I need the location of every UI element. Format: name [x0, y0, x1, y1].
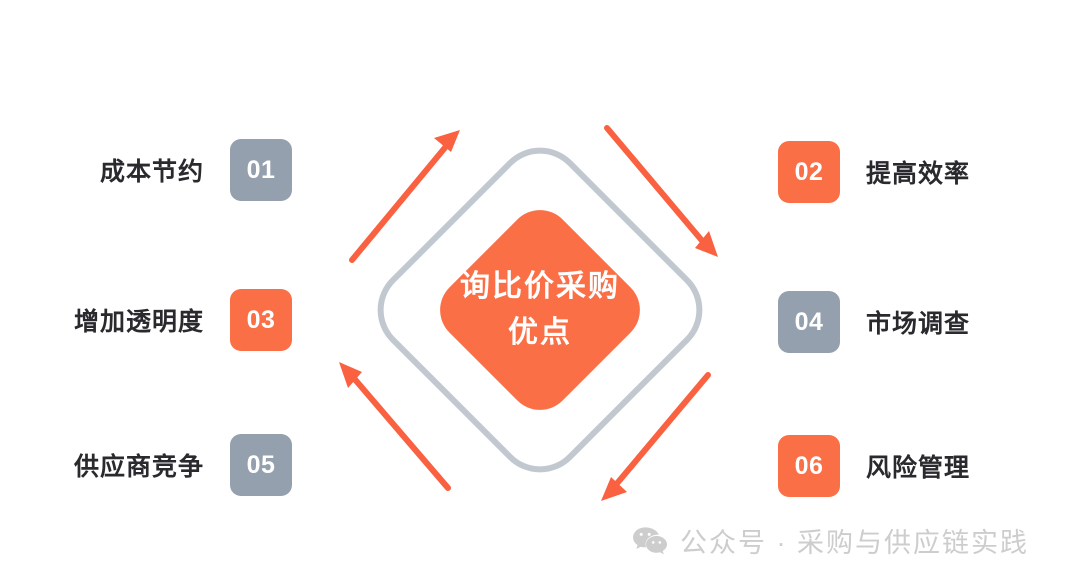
item-03-label: 增加透明度 [74, 302, 204, 338]
infographic-canvas: 询比价采购 优点 成本节约 01 增加透明度 03 供应商竞争 05 02 提高… [0, 0, 1080, 587]
item-06[interactable]: 06 风险管理 [778, 434, 1038, 498]
item-05[interactable]: 供应商竞争 05 [60, 433, 292, 497]
item-05-label: 供应商竞争 [74, 447, 204, 483]
item-01-label: 成本节约 [100, 152, 204, 188]
item-04-badge: 04 [778, 291, 840, 353]
item-03-badge: 03 [230, 289, 292, 351]
diamond-fill [427, 197, 653, 423]
item-02-badge: 02 [778, 141, 840, 203]
item-01-badge: 01 [230, 139, 292, 201]
arrow-bottom-right [601, 375, 708, 501]
item-06-label: 风险管理 [866, 448, 970, 484]
item-05-badge: 05 [230, 434, 292, 496]
wechat-icon [632, 526, 668, 556]
watermark-text: 公众号 · 采购与供应链实践 [680, 521, 1029, 560]
watermark: 公众号 · 采购与供应链实践 [632, 521, 1029, 560]
arrow-top-right [607, 128, 718, 257]
item-01[interactable]: 成本节约 01 [60, 138, 292, 202]
item-04-label: 市场调查 [866, 304, 970, 340]
diamond-and-arrows-svg [330, 110, 750, 510]
item-03[interactable]: 增加透明度 03 [60, 288, 292, 352]
item-04[interactable]: 04 市场调查 [778, 290, 1038, 354]
arrow-top-left [352, 130, 460, 260]
item-02-label: 提高效率 [866, 154, 970, 190]
center-diagram: 询比价采购 优点 [330, 110, 750, 510]
item-02[interactable]: 02 提高效率 [778, 140, 1038, 204]
item-06-badge: 06 [778, 435, 840, 497]
